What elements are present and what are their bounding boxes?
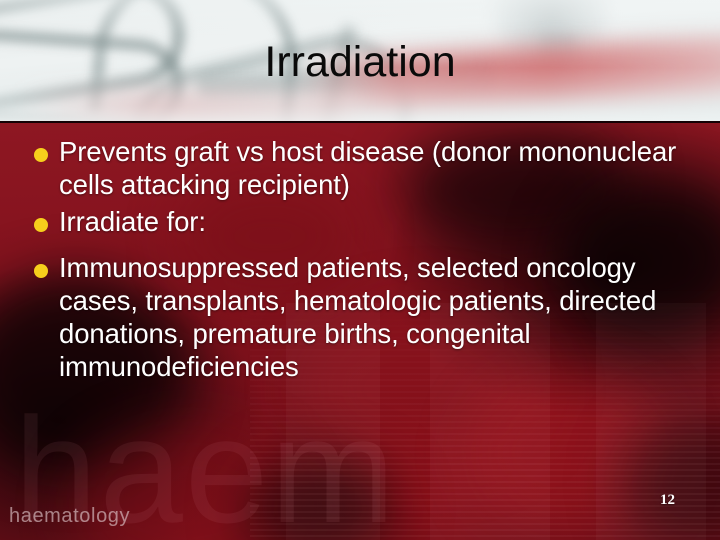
presentation-slide: Irradiation haem Prevents graft vs host … bbox=[0, 0, 720, 540]
bullet-text: Immunosuppressed patients, selected onco… bbox=[59, 251, 684, 383]
slide-header-banner: Irradiation bbox=[0, 0, 720, 123]
bullet-list-item: Prevents graft vs host disease (donor mo… bbox=[34, 135, 684, 201]
page-number: 12 bbox=[660, 492, 675, 509]
bullet-dot-icon bbox=[34, 148, 48, 162]
bullet-list-item: Irradiate for: bbox=[34, 205, 684, 238]
slide-title: Irradiation bbox=[0, 41, 720, 84]
bullet-list-item: Immunosuppressed patients, selected onco… bbox=[34, 251, 684, 383]
footer-logo-text: haematology bbox=[9, 505, 130, 528]
bullet-text: Prevents graft vs host disease (donor mo… bbox=[59, 135, 684, 201]
bullet-dot-icon bbox=[34, 218, 48, 232]
bullet-dot-icon bbox=[34, 264, 48, 278]
bullet-text: Irradiate for: bbox=[59, 205, 684, 238]
slide-body-content: Prevents graft vs host disease (donor mo… bbox=[0, 123, 720, 540]
